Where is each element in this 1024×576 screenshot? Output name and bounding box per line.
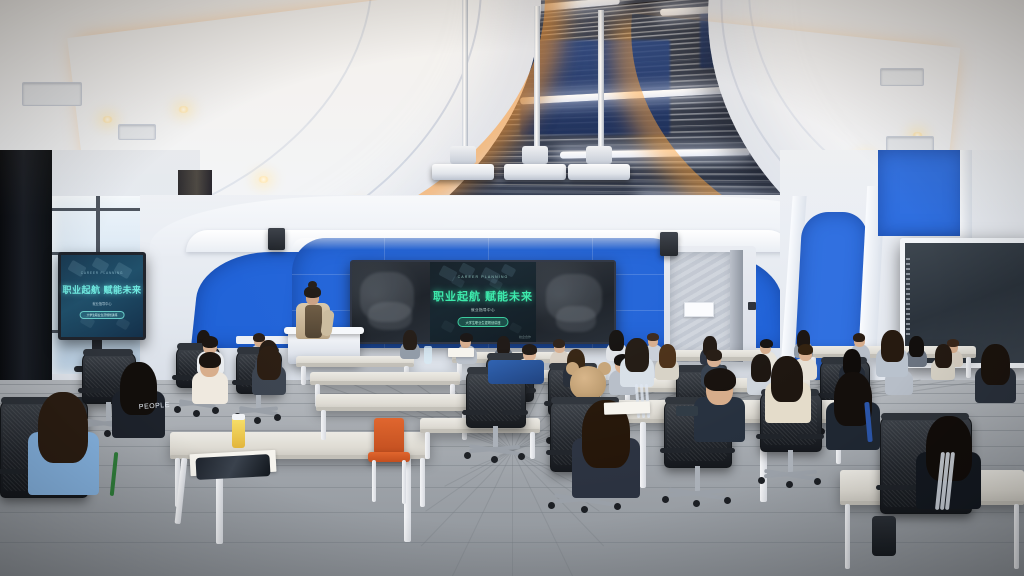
chair-caster bbox=[254, 417, 261, 424]
table-leg bbox=[966, 357, 971, 378]
slide-title: 职业起航 赋能未来 bbox=[430, 288, 536, 304]
chair-gas-lift bbox=[788, 450, 793, 472]
chair-arm bbox=[876, 485, 917, 490]
projector-3 bbox=[568, 164, 630, 180]
wall-speaker-right bbox=[268, 228, 285, 250]
person-hair bbox=[403, 330, 417, 350]
person-hair bbox=[257, 346, 281, 380]
projector-pole-2 bbox=[534, 6, 540, 150]
side-screen-badge: 大学生职业生涯规划讲座 bbox=[80, 311, 125, 319]
orange-chair-leg bbox=[372, 460, 376, 502]
projector-bracket-2 bbox=[522, 146, 548, 164]
slide-subtitle: 就业指导中心 bbox=[430, 308, 536, 313]
audience-member-far-15 bbox=[908, 336, 924, 365]
tumbler-cup bbox=[872, 516, 896, 556]
chalk-smudge bbox=[556, 306, 596, 332]
person-hair bbox=[935, 344, 952, 368]
blue-acoustic-panel-2 bbox=[878, 150, 964, 236]
table-leg bbox=[420, 458, 425, 507]
audience-member-mid-right-5 bbox=[624, 338, 650, 384]
paper-far bbox=[448, 348, 474, 357]
presentation-slide[interactable]: CAREER PLANNING 职业起航 赋能未来 就业指导中心 大学生职业生涯… bbox=[430, 262, 536, 342]
chair-gas-lift bbox=[695, 466, 700, 491]
table-leg-near bbox=[640, 422, 646, 488]
blue-backpack bbox=[488, 360, 544, 384]
person-hair bbox=[38, 392, 88, 463]
person-hair bbox=[553, 339, 565, 348]
table-edge bbox=[420, 429, 540, 433]
chair-caster bbox=[548, 502, 555, 509]
table-edge bbox=[310, 381, 460, 385]
chair-caster bbox=[464, 452, 471, 459]
audience-member-far-5 bbox=[402, 330, 417, 357]
chair-arm bbox=[660, 448, 690, 453]
teddy-bear-backpack bbox=[570, 366, 606, 400]
slide-watermark: 校企合作 bbox=[519, 335, 531, 339]
chair-arm bbox=[462, 410, 488, 415]
audience-member-near-center-2 bbox=[700, 368, 739, 437]
side-screen-title: 职业起航 赋能未来 bbox=[61, 283, 143, 296]
chair-caster bbox=[274, 414, 281, 421]
person-hair bbox=[704, 368, 736, 391]
projector-1 bbox=[432, 164, 494, 180]
paper-handout bbox=[604, 401, 650, 415]
audience-member-near-left-hoodie bbox=[118, 362, 158, 433]
person-hair bbox=[460, 333, 473, 342]
chair-caster bbox=[581, 506, 588, 513]
ceiling-vent bbox=[118, 124, 156, 140]
chair-arm bbox=[502, 410, 528, 415]
ceiling-vent bbox=[22, 82, 82, 106]
downlight bbox=[102, 116, 113, 123]
person-hair bbox=[199, 352, 221, 368]
front-board-assembly[interactable]: CAREER PLANNING 职业起航 赋能未来 就业指导中心 大学生职业生涯… bbox=[350, 260, 616, 344]
smartphone bbox=[676, 406, 698, 416]
audience-member-near-left-3 bbox=[196, 352, 223, 400]
table-leg bbox=[301, 366, 306, 385]
person-hair bbox=[909, 336, 924, 357]
person-hair bbox=[798, 344, 813, 355]
chair-arm bbox=[232, 380, 252, 385]
chair-caster bbox=[814, 478, 821, 485]
person-hair bbox=[853, 333, 865, 342]
slide-deco bbox=[509, 322, 522, 334]
table-leg bbox=[425, 432, 430, 459]
downlight bbox=[178, 106, 189, 113]
chair-headrest bbox=[83, 349, 133, 356]
door-jamb bbox=[730, 250, 743, 362]
folded-jacket bbox=[195, 454, 270, 480]
display-bezel-vent bbox=[906, 258, 910, 336]
audience-member-mid-10 bbox=[934, 344, 953, 377]
chair-caster bbox=[662, 496, 669, 503]
table-edge bbox=[316, 407, 472, 411]
downlight bbox=[258, 176, 269, 183]
chair-caster bbox=[758, 477, 765, 484]
person-hair bbox=[751, 354, 771, 382]
chair-caster bbox=[518, 453, 525, 460]
audience-member-mid-right-6 bbox=[880, 330, 905, 374]
lecture-hall-photo: CAREER PLANNING 职业起航 赋能未来 就业指导中心 大学生职业生涯… bbox=[0, 0, 1024, 576]
blackboard-right bbox=[535, 262, 614, 342]
chair-gas-lift bbox=[106, 402, 111, 421]
chair-arm bbox=[797, 434, 824, 439]
audience-member-far-8 bbox=[552, 339, 567, 366]
person-hair bbox=[760, 339, 773, 348]
person-hair bbox=[881, 330, 904, 362]
person-hair bbox=[625, 338, 649, 372]
person-hair bbox=[706, 349, 722, 361]
slide-deco bbox=[441, 320, 456, 334]
bottle-cap bbox=[232, 414, 245, 420]
person-hair bbox=[771, 356, 803, 402]
audience-member-near-right-1 bbox=[770, 356, 805, 418]
slide-eyebrow: CAREER PLANNING bbox=[430, 275, 536, 279]
chair-caster bbox=[614, 503, 621, 510]
table-leg bbox=[845, 504, 850, 569]
chair-gas-lift bbox=[493, 426, 498, 447]
side-screen-subtitle: 就业指导中心 bbox=[61, 301, 143, 306]
chair-caster bbox=[693, 500, 700, 507]
chair-caster bbox=[491, 456, 498, 463]
projector-pole-3 bbox=[598, 10, 604, 150]
ceiling-vent bbox=[880, 68, 924, 86]
projector-pole-1 bbox=[462, 0, 468, 150]
door-sign bbox=[684, 302, 714, 317]
side-screen[interactable]: CAREER PLANNING 职业起航 赋能未来 就业指导中心 大学生职业生涯… bbox=[58, 252, 146, 340]
person-hair bbox=[522, 344, 537, 355]
chalk-smudge bbox=[368, 302, 412, 330]
chair-caster bbox=[104, 430, 111, 437]
chair-arm bbox=[172, 375, 191, 380]
wall-speaker-left bbox=[660, 232, 678, 256]
chair-caster bbox=[786, 481, 793, 488]
person-hair bbox=[202, 336, 218, 348]
projector-bracket-1 bbox=[450, 146, 476, 164]
person-hair bbox=[659, 344, 676, 368]
table-leg bbox=[321, 410, 326, 440]
side-screen-eyebrow: CAREER PLANNING bbox=[61, 271, 143, 275]
person-hair bbox=[609, 330, 624, 351]
table-leg bbox=[1014, 504, 1019, 569]
chair-arm bbox=[756, 434, 783, 439]
orange-stacking-chair-back bbox=[374, 418, 404, 454]
audience-member-near-left-blue-jacket bbox=[36, 392, 91, 489]
chair-arm bbox=[705, 448, 735, 453]
presenter-vest bbox=[305, 305, 322, 338]
audience-member-mid-4 bbox=[658, 344, 677, 377]
table-edge bbox=[296, 363, 414, 367]
person-hair bbox=[981, 344, 1010, 385]
slide-badge: 大学生职业生涯规划讲座 bbox=[457, 317, 508, 327]
water-bottle-far bbox=[424, 346, 432, 364]
presenter-hair-bun bbox=[308, 281, 317, 289]
audience-member-near-left-4 bbox=[256, 346, 282, 392]
projector-bracket-3 bbox=[586, 146, 612, 164]
chair-caster bbox=[212, 407, 219, 414]
audience-member-near-right-4 bbox=[980, 344, 1011, 399]
projector-2 bbox=[504, 164, 566, 180]
juice-bottle bbox=[232, 418, 245, 448]
light-switch[interactable] bbox=[748, 302, 756, 310]
chair-caster bbox=[724, 497, 731, 504]
orange-chair-leg bbox=[402, 460, 406, 504]
table-leg bbox=[530, 432, 535, 459]
